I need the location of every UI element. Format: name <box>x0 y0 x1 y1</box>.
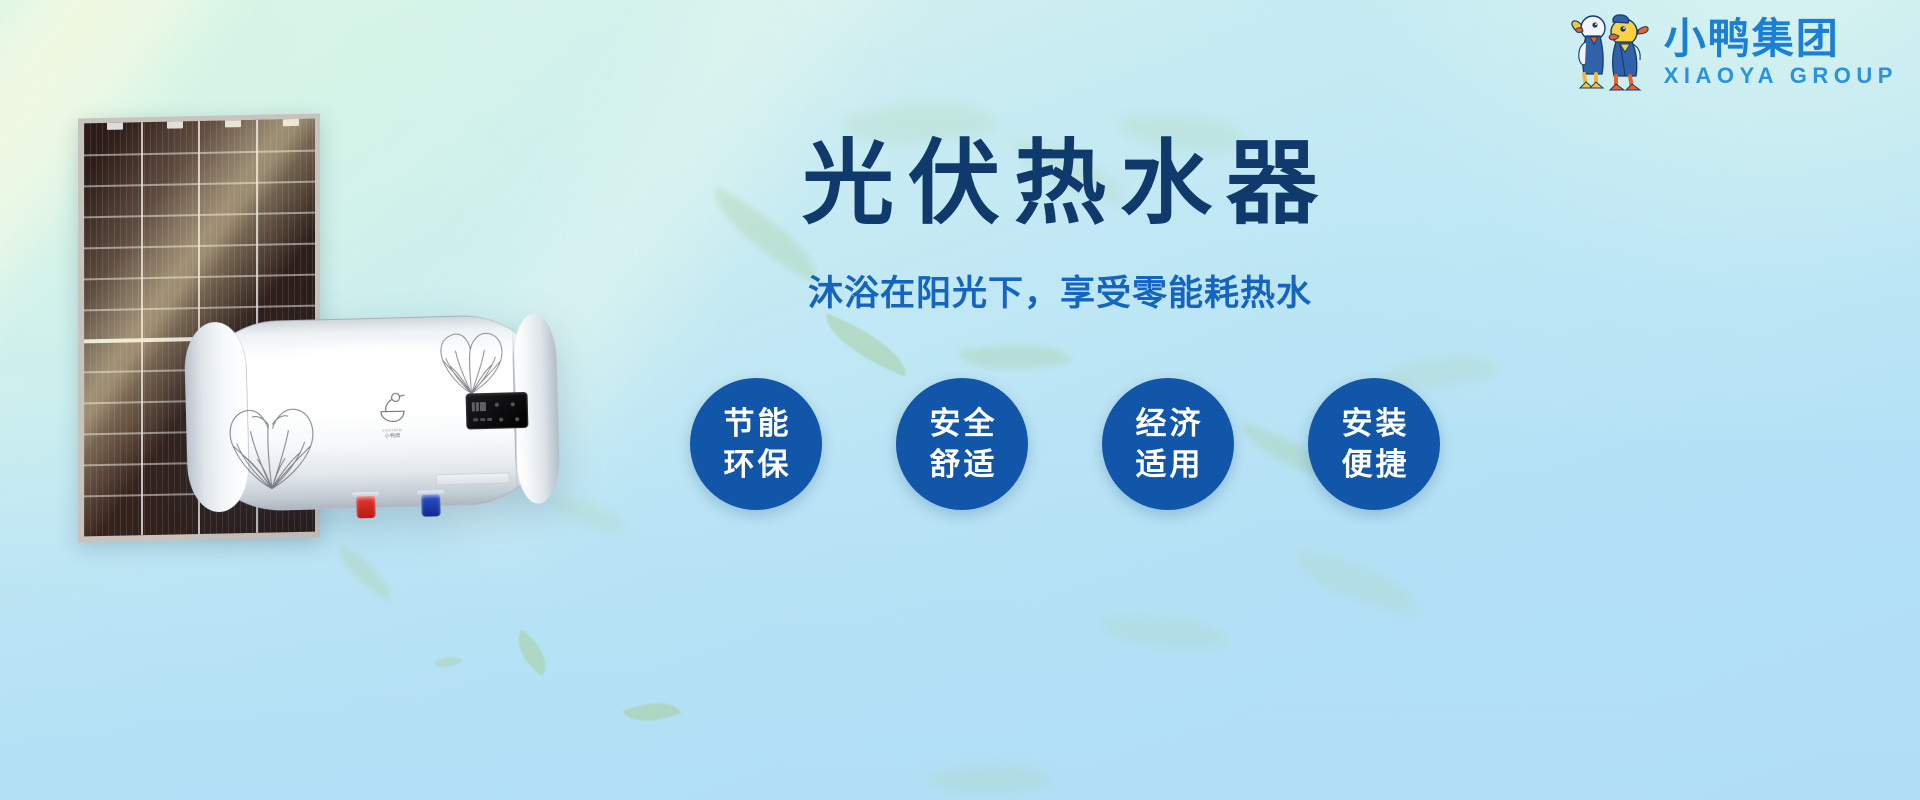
water-heater-brand-mark: XIAOYAPAI 小鸭牌 <box>373 391 410 440</box>
leaf-icon <box>507 630 558 677</box>
badge-line-2: 适用 <box>1133 444 1204 485</box>
badge-line-1: 安装 <box>1339 403 1410 444</box>
headline-block: 光伏热水器 沐浴在阳光下，享受零能耗热水 <box>700 130 1420 316</box>
leaf-icon <box>328 544 402 602</box>
cold-water-port <box>421 494 441 516</box>
control-button-icon[interactable] <box>495 403 499 407</box>
logo-name-cn: 小鸭集团 <box>1664 18 1898 60</box>
page-title: 光伏热水器 <box>700 130 1420 239</box>
badge-line-1: 经济 <box>1133 403 1204 444</box>
leaf-icon <box>622 691 681 733</box>
promo-banner: XIAOYAPAI 小鸭牌 光伏热水器 沐浴在阳光下，享受零能耗热水 节能 环保 <box>0 0 1920 800</box>
leaf-icon <box>433 649 463 674</box>
control-button-icon[interactable] <box>499 418 503 422</box>
logo-name-en: XIAOYA GROUP <box>1664 65 1898 87</box>
leaf-icon <box>927 746 1053 800</box>
control-button-icon[interactable] <box>511 402 515 406</box>
badge-line-2: 环保 <box>721 444 792 485</box>
feature-badge-list: 节能 环保 安全 舒适 经济 适用 安装 便捷 <box>690 378 1440 510</box>
feature-badge-economical[interactable]: 经济 适用 <box>1102 378 1234 510</box>
hot-water-port <box>356 496 376 518</box>
temperature-display <box>472 402 486 411</box>
corporate-logo[interactable]: 小鸭集团 XIAOYA GROUP <box>1568 8 1898 96</box>
page-subtitle: 沐浴在阳光下，享受零能耗热水 <box>700 265 1420 316</box>
logo-text-block: 小鸭集团 XIAOYA GROUP <box>1664 18 1898 87</box>
badge-line-2: 舒适 <box>927 444 998 485</box>
feature-badge-safe-comfortable[interactable]: 安全 舒适 <box>896 378 1028 510</box>
control-indicator-icon <box>480 418 485 421</box>
control-indicator-icon <box>473 418 478 421</box>
water-heater-left-cap <box>184 321 251 513</box>
control-button-icon[interactable] <box>515 417 519 421</box>
water-heater-control-panel[interactable] <box>466 392 529 430</box>
leaf-icon <box>1098 606 1227 659</box>
leaf-icon <box>958 329 1073 385</box>
sun-ray-icon <box>0 0 33 642</box>
water-heater-product: XIAOYAPAI 小鸭牌 <box>186 313 559 513</box>
brand-mark-cn: 小鸭牌 <box>375 432 411 440</box>
badge-line-2: 便捷 <box>1339 444 1410 485</box>
duck-mascots-icon <box>1568 8 1654 96</box>
feature-badge-energy-saving[interactable]: 节能 环保 <box>690 378 822 510</box>
leaf-icon <box>1287 549 1425 615</box>
water-heater-label <box>436 472 510 485</box>
control-indicator-icon <box>487 418 492 421</box>
feature-badge-easy-install[interactable]: 安装 便捷 <box>1308 378 1440 510</box>
badge-line-1: 安全 <box>927 403 998 444</box>
leaf-icon <box>816 313 916 377</box>
badge-line-1: 节能 <box>721 403 792 444</box>
